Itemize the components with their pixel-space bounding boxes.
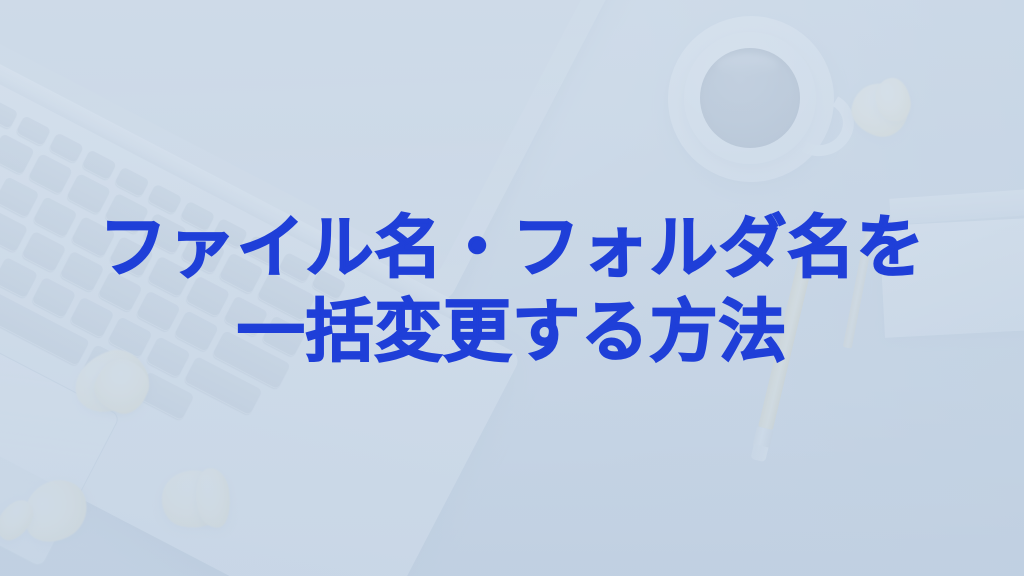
title-line-1: ファイル名・フォルダ名を [99,209,925,289]
title-line-2: 一括変更する方法 [237,293,788,373]
title-card: ファイル名・フォルダ名を 一括変更する方法 [0,0,1024,576]
title-block: ファイル名・フォルダ名を 一括変更する方法 [0,0,1024,576]
